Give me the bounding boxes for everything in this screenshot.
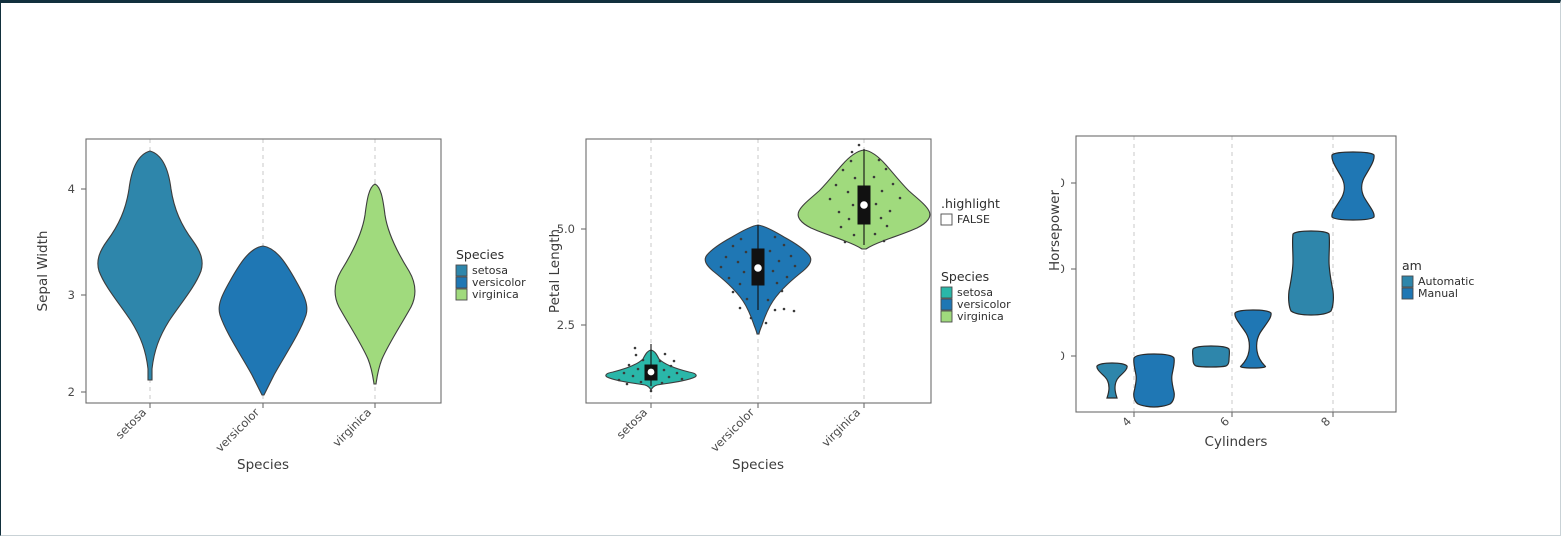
- plot-horsepower-svg: 300 200 100 4 6 8 Cylinders am Automatic…: [1061, 3, 1561, 539]
- ytick-label-3: 3: [68, 288, 75, 302]
- xtick-label-6: 6: [1217, 414, 1232, 429]
- ytick-label-300: 300: [1061, 176, 1065, 190]
- xtick-label-virginica-2: virginica: [819, 405, 863, 449]
- violin-cyl6-manual: [1235, 310, 1271, 368]
- violin-cyl4-manual: [1134, 354, 1175, 407]
- legend-am: am Automatic Manual: [1402, 258, 1474, 300]
- violin-versicolor: [219, 246, 307, 395]
- x-axis-title-1: Species: [237, 457, 289, 473]
- legend-title-highlight: .highlight: [941, 196, 1000, 211]
- y-axis-title-1: Sepal Width: [35, 231, 51, 312]
- legend-title-species-1: Species: [456, 247, 504, 262]
- ytick-label-2-5: 2.5: [557, 318, 575, 332]
- legend-species-2: Species setosa versicolor virginica: [941, 269, 1011, 323]
- legend-label-false: FALSE: [957, 213, 990, 226]
- violin-cyl8-automatic: [1289, 231, 1334, 315]
- violin-cyl6-automatic: [1193, 346, 1230, 367]
- legend-swatch-automatic[interactable]: [1402, 276, 1413, 287]
- xtick-label-4: 4: [1119, 414, 1134, 429]
- legend-species-1: Species setosa versicolor virginica: [456, 247, 526, 301]
- ytick-label-4: 4: [68, 182, 75, 196]
- legend-title-species-2: Species: [941, 269, 989, 284]
- xtick-label-versicolor: versicolor: [213, 405, 263, 455]
- x-axis-title-2: Species: [732, 457, 784, 473]
- boxplot-setosa-2: [645, 344, 657, 386]
- figure-canvas: 4 3 2 Sepal Width setosa versicolor virg…: [0, 0, 1561, 536]
- y-axis-title-3: Horsepower: [1047, 190, 1063, 271]
- legend-swatch-virginica-1[interactable]: [456, 289, 467, 300]
- legend-swatch-false[interactable]: [941, 214, 952, 225]
- legend-label-virginica-1: virginica: [472, 288, 519, 301]
- legend-title-am: am: [1402, 258, 1422, 273]
- legend-swatch-versicolor-1[interactable]: [456, 277, 467, 288]
- plot-petal-length-svg: 5.0 2.5 Petal Length setosa versicolor v…: [541, 3, 1061, 539]
- plot-horsepower: 300 200 100 4 6 8 Cylinders am Automatic…: [1061, 3, 1561, 539]
- violin-setosa: [98, 151, 202, 380]
- xtick-label-8: 8: [1318, 414, 1333, 429]
- legend-swatch-versicolor-2[interactable]: [941, 299, 952, 310]
- legend-swatch-setosa-1[interactable]: [456, 265, 467, 276]
- x-axis-title-3: Cylinders: [1205, 434, 1268, 450]
- legend-label-virginica-2: virginica: [957, 310, 1004, 323]
- ytick-label-100: 100: [1061, 349, 1065, 363]
- legend-swatch-manual[interactable]: [1402, 288, 1413, 299]
- plot-sepal-width-svg: 4 3 2 Sepal Width setosa versicolor virg…: [1, 3, 541, 539]
- xtick-label-virginica: virginica: [330, 405, 374, 449]
- legend-swatch-virginica-2[interactable]: [941, 311, 952, 322]
- xtick-label-setosa-2: setosa: [614, 405, 651, 442]
- plot-petal-length: 5.0 2.5 Petal Length setosa versicolor v…: [541, 3, 1061, 539]
- violin-virginica: [335, 184, 415, 384]
- legend-label-manual: Manual: [1418, 287, 1458, 300]
- y-axis-title-2: Petal Length: [547, 229, 563, 313]
- plot-sepal-width: 4 3 2 Sepal Width setosa versicolor virg…: [1, 3, 541, 539]
- legend-highlight: .highlight FALSE: [941, 196, 1000, 226]
- ytick-label-2: 2: [68, 385, 75, 399]
- violin-cyl4-automatic: [1097, 363, 1127, 398]
- xtick-label-versicolor-2: versicolor: [708, 405, 758, 455]
- violin-cyl8-manual: [1332, 152, 1374, 220]
- legend-swatch-setosa-2[interactable]: [941, 287, 952, 298]
- xtick-label-setosa: setosa: [113, 405, 150, 442]
